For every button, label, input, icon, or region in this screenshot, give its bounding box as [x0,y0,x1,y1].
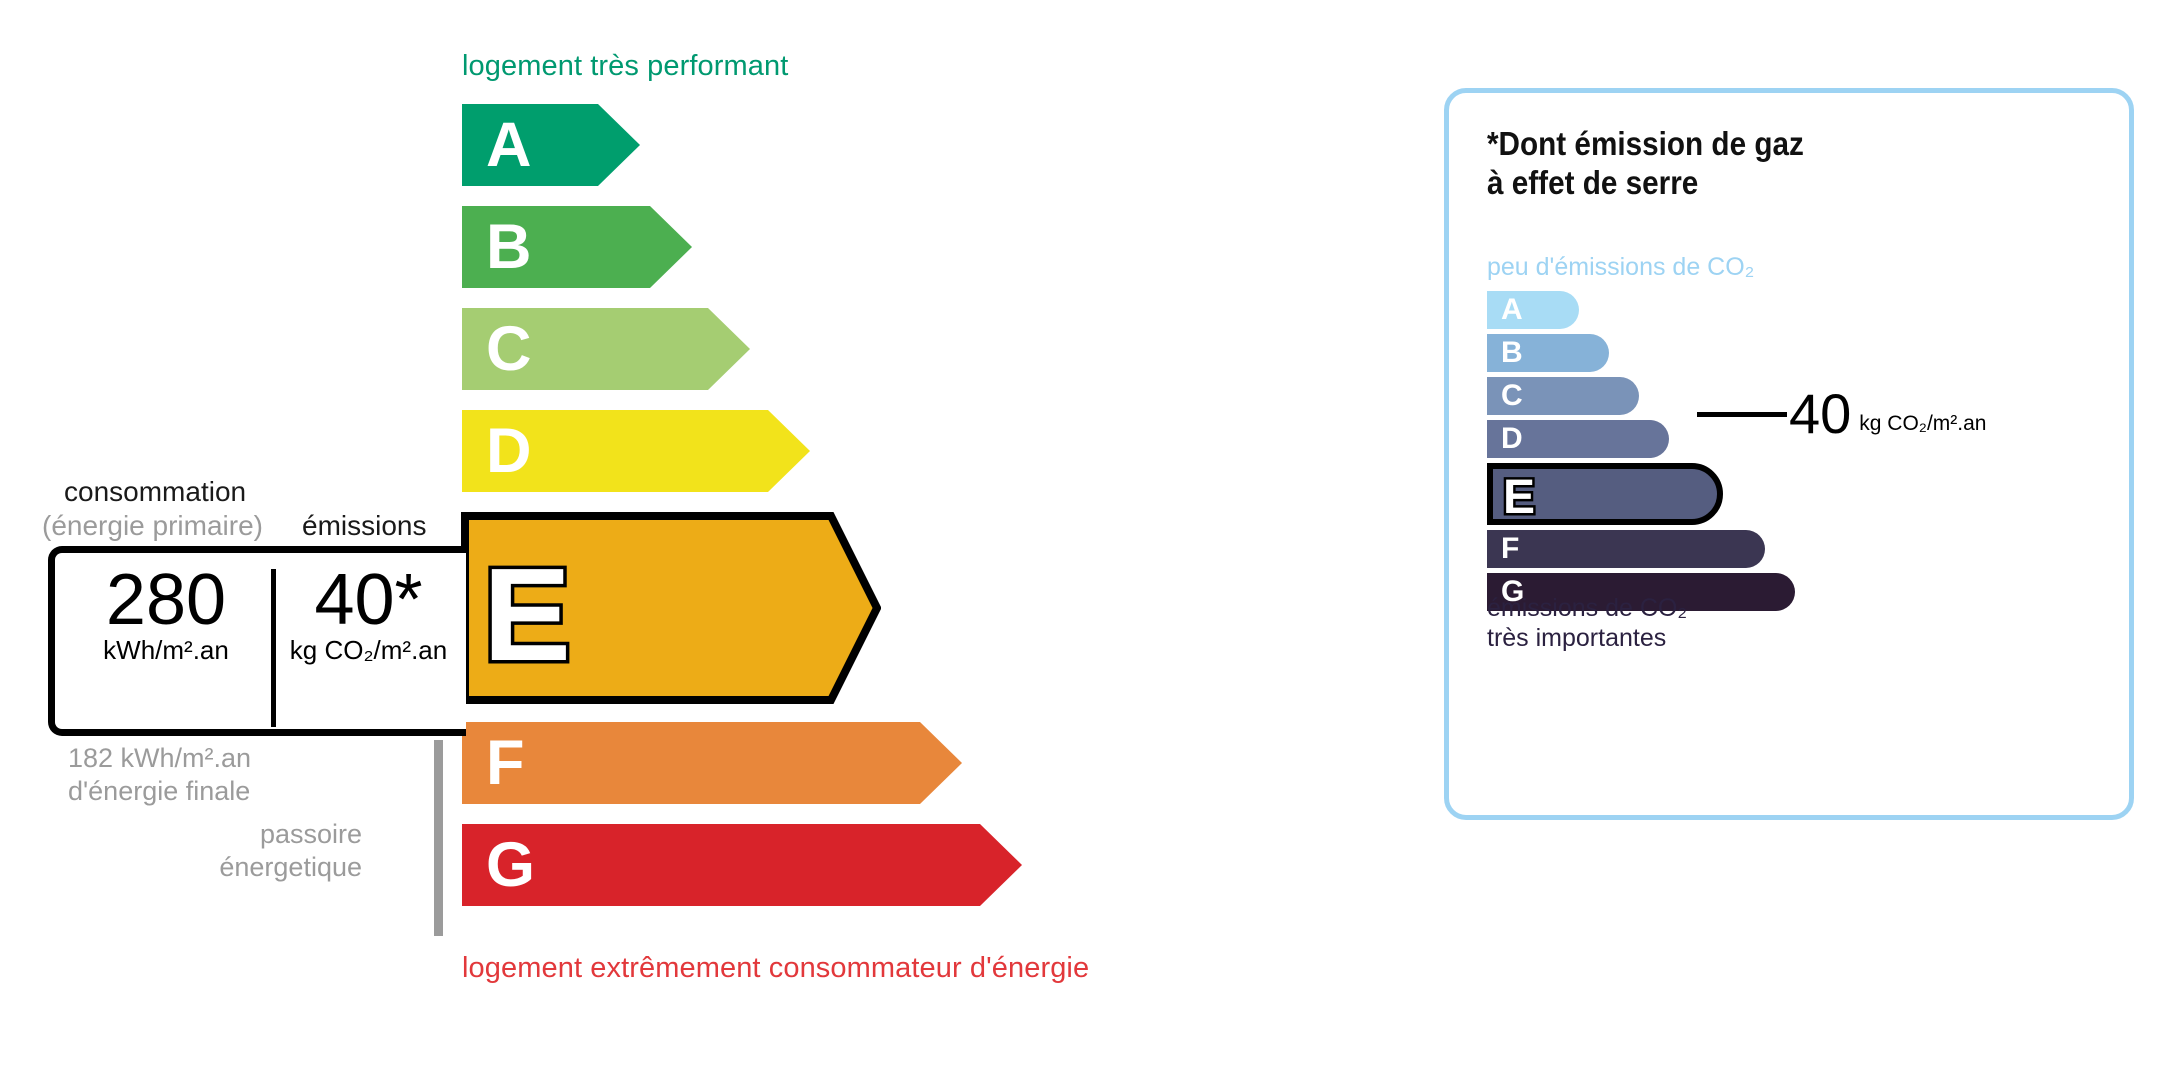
vertical-gray-divider [434,740,443,936]
energy-row-f: F [462,722,1282,804]
co2-class-bars: A B C D E [1487,291,1907,616]
co2-bar-b: B [1487,334,1609,372]
co2-bar-c: C [1487,377,1639,415]
energy-bar-f: F [462,722,962,804]
energy-bar-letter-b: B [486,216,532,279]
energy-bar-letter-f: F [486,732,524,795]
energy-bar-g: G [462,824,1022,906]
co2-bar-letter-c: C [1501,381,1523,411]
energy-performance-panel: logement très performant A B C D [0,0,1420,1079]
co2-bottom-caption: émissions de CO₂ très importantes [1487,593,1687,653]
energy-row-a: A [462,104,1282,186]
energy-top-caption: logement très performant [462,50,788,83]
label-energie-finale: 182 kWh/m².an d'énergie finale [68,742,251,808]
co2-row-e: E [1487,463,1907,525]
co2-top-caption: peu d'émissions de CO₂ [1487,253,1754,282]
label-consommation-sub: (énergie primaire) [42,510,263,542]
consumption-unit: kWh/m².an [61,635,271,666]
emission-value: 40* [276,563,461,639]
co2-bar-letter-f: F [1501,534,1519,564]
co2-row-b: B [1487,334,1907,372]
energy-bar-b: B [462,206,692,288]
energy-bar-letter-d: D [486,420,532,483]
energy-class-bars: A B C D E [462,104,1282,926]
energy-row-g: G [462,824,1282,906]
energy-bar-letter-a: A [486,114,532,177]
co2-bar-f: F [1487,530,1765,568]
co2-bar-d: D [1487,420,1669,458]
emission-unit: kg CO₂/m².an [276,635,461,666]
energy-row-c: C [462,308,1282,390]
energy-bar-letter-c: C [486,318,532,381]
energy-bar-letter-g: G [486,834,535,897]
co2-bar-e-highlighted: E [1487,463,1727,525]
co2-row-a: A [1487,291,1907,329]
callout-leader-line [1697,412,1787,417]
co2-bar-letter-a: A [1501,295,1523,325]
label-consommation: consommation [64,476,246,508]
co2-panel-title: *Dont émission de gaz à effet de serre [1487,125,1804,203]
label-passoire-energetique: passoire énergetique [212,818,362,884]
co2-emission-panel: *Dont émission de gaz à effet de serre p… [1444,88,2134,820]
energy-row-d: D [462,410,1282,492]
energy-bar-a: A [462,104,640,186]
energy-bar-letter-e: E [483,541,571,688]
co2-bar-letter-b: B [1501,338,1523,368]
label-emissions: émissions [302,510,426,542]
co2-bar-letter-e: E [1503,471,1535,524]
readout-emission: 40* kg CO₂/m².an [276,563,461,666]
co2-callout-value: 40 [1789,386,1851,442]
co2-bar-a: A [1487,291,1579,329]
co2-value-callout: 40 kg CO₂/m².an [1697,386,1986,442]
energy-readout-box: 280 kWh/m².an 40* kg CO₂/m².an [48,546,466,736]
energy-bar-c: C [462,308,750,390]
readout-consumption: 280 kWh/m².an [61,563,271,666]
energy-bar-e-highlighted: E [461,512,881,704]
co2-callout-unit: kg CO₂/m².an [1859,412,1986,436]
co2-bar-letter-d: D [1501,424,1523,454]
co2-row-f: F [1487,530,1907,568]
energy-row-e: E [462,512,1282,704]
energy-row-b: B [462,206,1282,288]
consumption-value: 280 [61,563,271,639]
energy-bottom-caption: logement extrêmement consommateur d'éner… [462,952,1089,985]
energy-bar-d: D [462,410,810,492]
